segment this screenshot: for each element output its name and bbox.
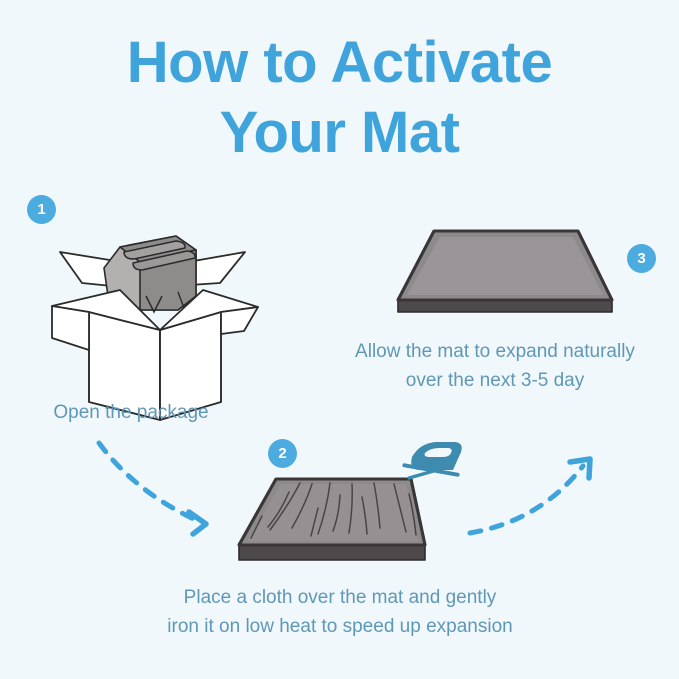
step-2-caption: Place a cloth over the mat and gently ir… [109, 583, 571, 642]
step-3-caption: Allow the mat to expand naturally over t… [318, 337, 672, 396]
dashed-curved-arrow-down-right [99, 443, 206, 534]
step-3-caption-line-1: Allow the mat to expand naturally [318, 337, 672, 366]
dashed-curved-arrow-up-right [470, 459, 590, 533]
page-title-line-2: Your Mat [0, 98, 679, 168]
flat-mat-icon [398, 231, 612, 312]
folded-mat-in-box [104, 236, 196, 312]
page-title-line-1: How to Activate [0, 28, 679, 98]
step-1-caption: Open the package [0, 398, 262, 427]
infographic-canvas: How to Activate Your Mat [0, 0, 679, 679]
step-2-caption-line-1: Place a cloth over the mat and gently [109, 583, 571, 612]
cardboard-box-icon [52, 236, 258, 420]
iron-icon [404, 442, 461, 478]
step-3-caption-line-2: over the next 3-5 day [318, 366, 672, 395]
step-badge-1: 1 [27, 195, 56, 224]
wrinkled-mat-icon [239, 479, 425, 560]
step-2-caption-line-2: iron it on low heat to speed up expansio… [109, 612, 571, 641]
step-badge-3: 3 [627, 244, 656, 273]
step-1-caption-line-1: Open the package [0, 398, 262, 427]
page-title: How to Activate Your Mat [0, 28, 679, 167]
step-badge-2: 2 [268, 439, 297, 468]
